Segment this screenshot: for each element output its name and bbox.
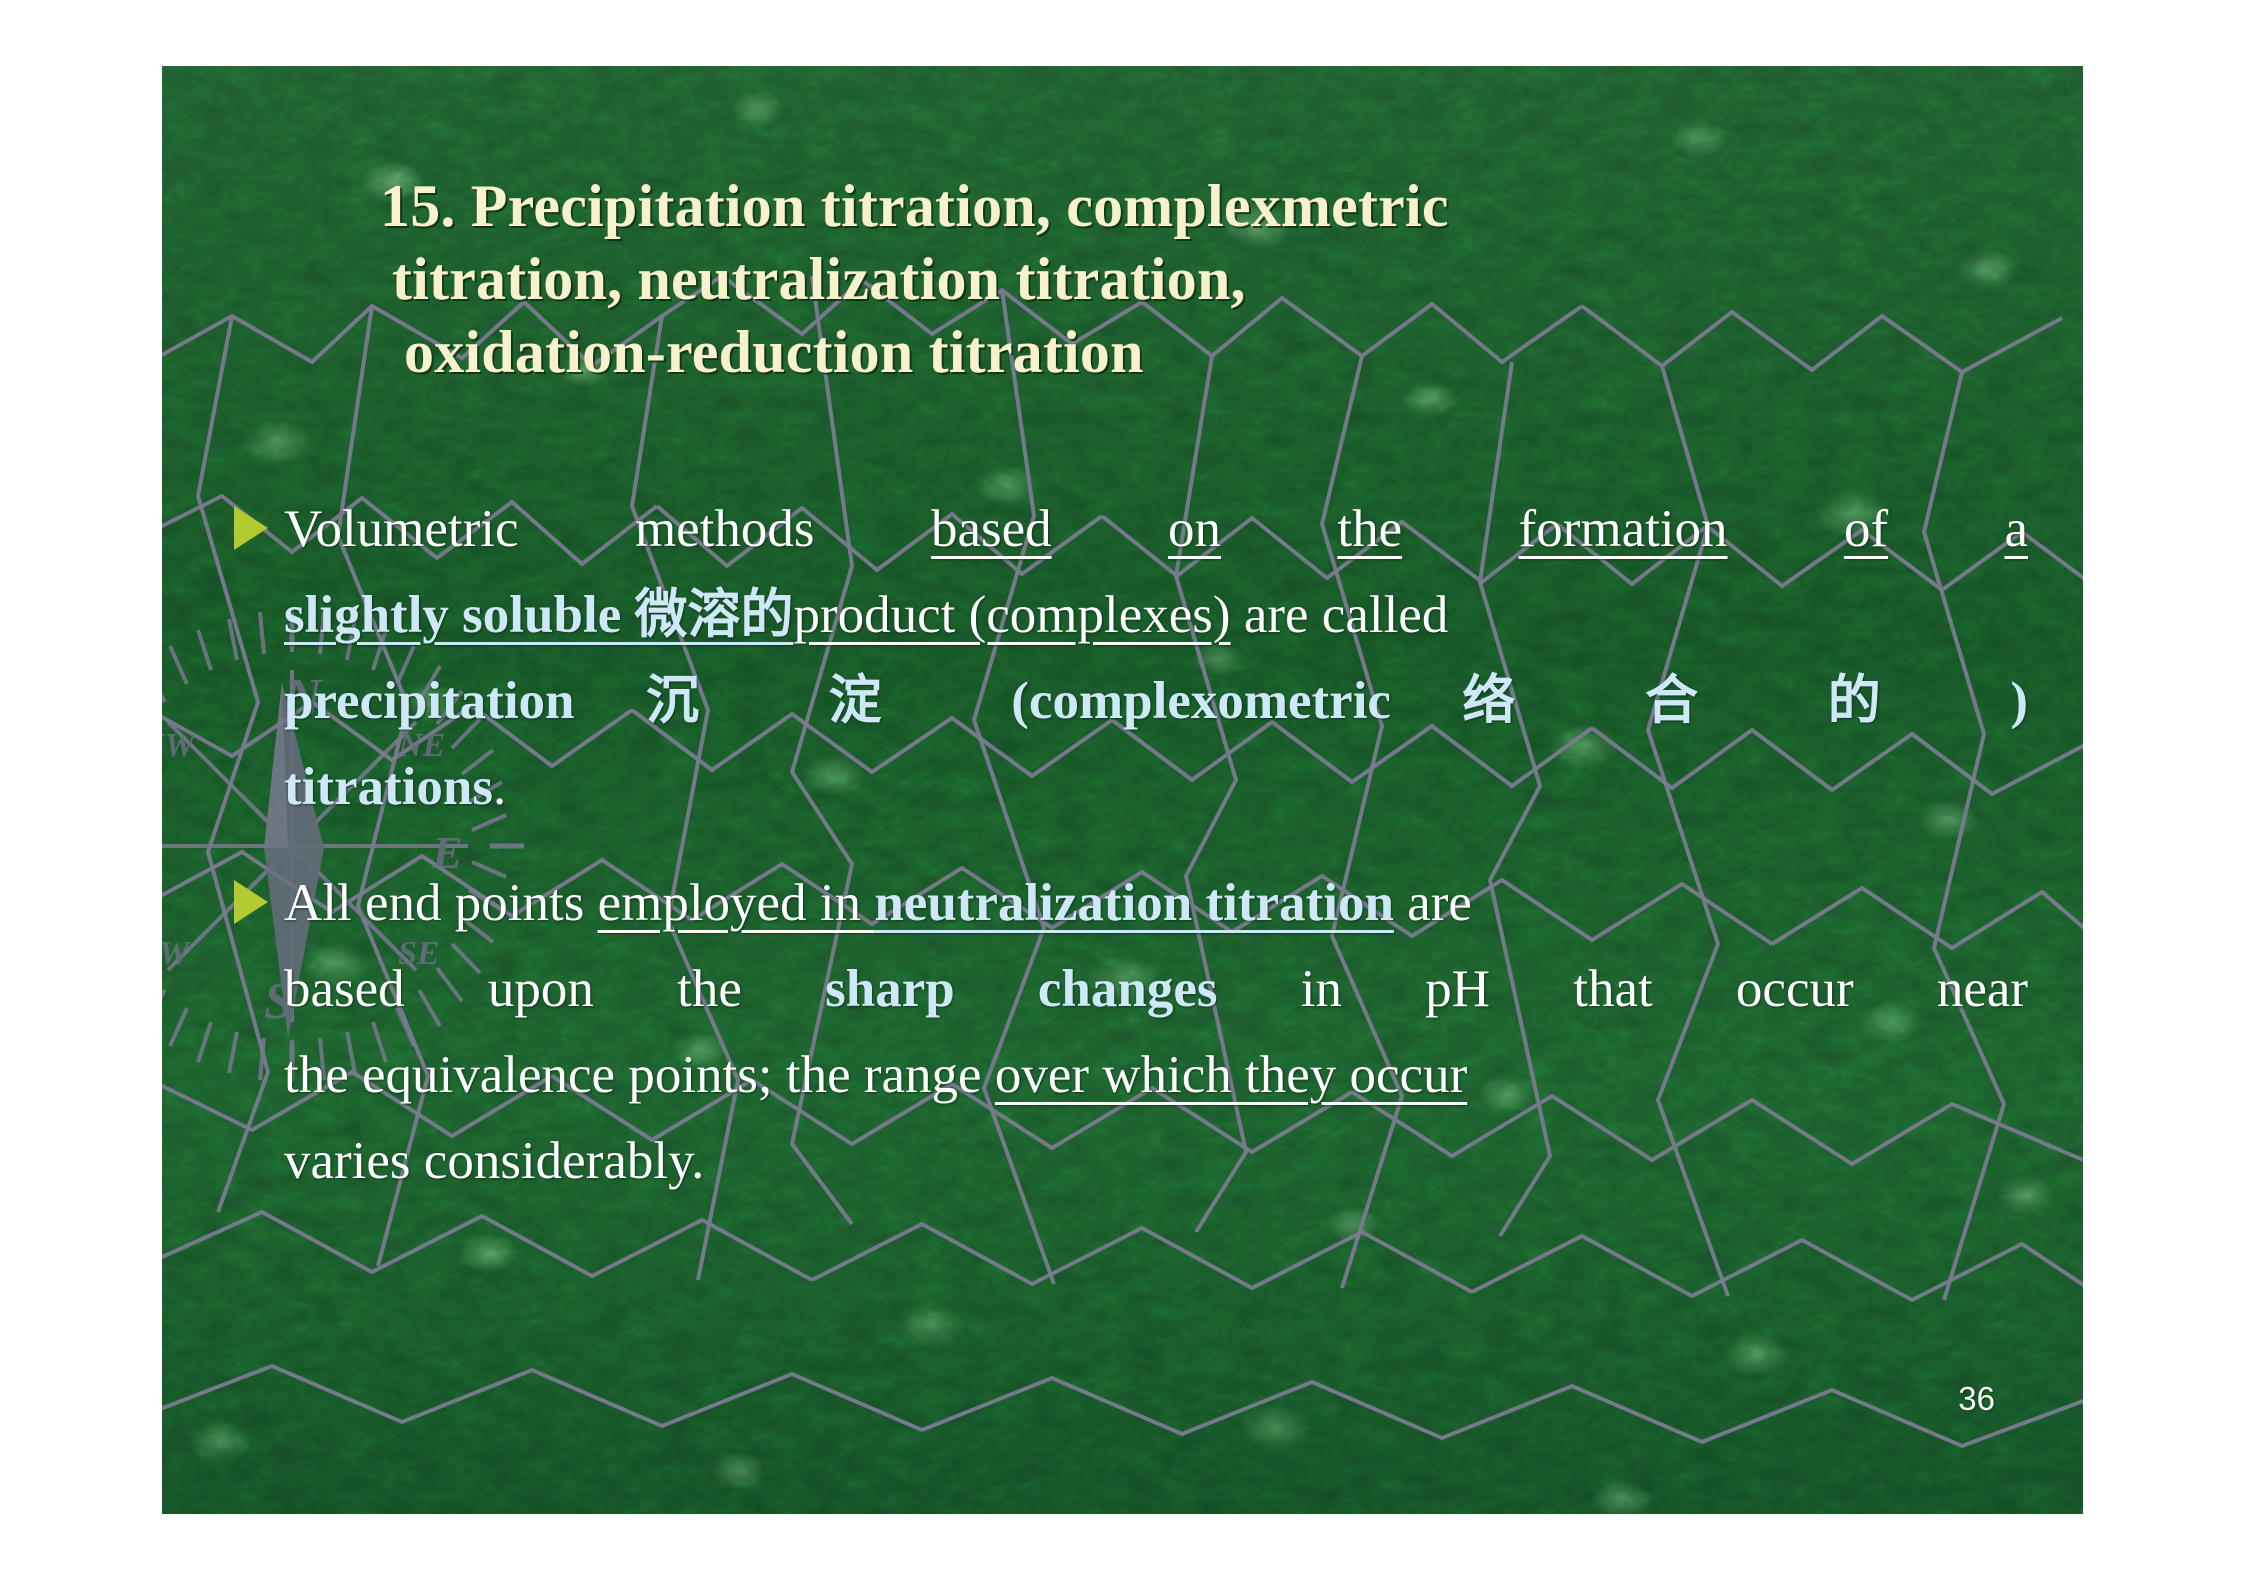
- slide-title: 15. Precipitation titration, complexmetr…: [380, 170, 1860, 389]
- bullet-2-line-3: the equivalence points; the range over w…: [284, 1032, 2028, 1118]
- seg-plain: are called: [1231, 586, 1449, 644]
- seg-underline: formation: [1519, 500, 1728, 558]
- seg-underline: a: [2004, 500, 2028, 558]
- seg-underline: based: [931, 500, 1052, 558]
- seg-underline: on: [1168, 500, 1221, 558]
- seg-underline: of: [1844, 500, 1888, 558]
- seg-accent-underline: slightly soluble: [284, 586, 634, 644]
- seg-plain: near: [1937, 960, 2028, 1018]
- seg-underline: employed in: [598, 874, 875, 932]
- seg-underline: over which they occur: [995, 1046, 1467, 1104]
- compass-label-nw: NW: [162, 727, 198, 764]
- bullet-2-line-2: based upon the sharp changes in pH that …: [284, 946, 2028, 1032]
- seg-accent-cjk: 淀: [829, 670, 940, 731]
- seg-plain: based: [284, 960, 405, 1018]
- presentation-slide: N S E W NW NE SW SE 15. Precipitation ti…: [162, 66, 2083, 1514]
- screenshot-canvas: N S E W NW NE SW SE 15. Precipitation ti…: [0, 0, 2246, 1586]
- seg-plain: the equivalence points; the range: [284, 1046, 995, 1104]
- seg-accent: titrations: [284, 758, 493, 816]
- bullet-1-line-3: precipitation 沉 淀 (complexometric 络 合 的 …: [284, 658, 2028, 744]
- seg-accent-cjk: 合: [1645, 670, 1756, 731]
- seg-plain: methods: [635, 500, 815, 558]
- triangle-bullet-icon: [234, 880, 268, 924]
- triangle-bullet-icon: [234, 506, 268, 550]
- seg-plain: All end points: [284, 874, 598, 932]
- seg-plain: occur: [1736, 960, 1854, 1018]
- bullet-item-1: Volumetric methods based on the formatio…: [228, 486, 2028, 830]
- seg-plain: Volumetric: [284, 500, 519, 558]
- seg-plain: the: [677, 960, 742, 1018]
- seg-accent: (complexometric: [1011, 672, 1391, 730]
- bullet-1-text: Volumetric methods based on the formatio…: [284, 486, 2028, 830]
- compass-label-sw: SW: [162, 935, 192, 972]
- bullet-1-line-2: slightly soluble 微溶的product (complexes) …: [284, 572, 2028, 658]
- seg-underline: product (complexes): [793, 586, 1230, 644]
- seg-accent-cjk: 沉: [646, 670, 757, 731]
- seg-accent: sharp changes: [825, 960, 1217, 1018]
- seg-plain: pH: [1425, 960, 1490, 1018]
- slide-body: Volumetric methods based on the formatio…: [228, 486, 2028, 1234]
- seg-accent-cjk: 的: [1828, 670, 1939, 731]
- seg-plain: that: [1573, 960, 1652, 1018]
- seg-plain: in: [1301, 960, 1342, 1018]
- bullet-1-line-4: titrations.: [284, 744, 2028, 830]
- page-number: 36: [1958, 1380, 1995, 1418]
- bullet-2-line-1: All end points employed in neutralizatio…: [284, 860, 2028, 946]
- seg-accent: ): [2010, 672, 2028, 730]
- seg-plain: are: [1394, 874, 1472, 932]
- bullet-2-line-4: varies considerably.: [284, 1118, 2028, 1204]
- title-line-1: 15. Precipitation titration, complexmetr…: [380, 170, 1860, 243]
- bullet-item-2: All end points employed in neutralizatio…: [228, 860, 2028, 1204]
- title-line-2: titration, neutralization titration,: [380, 243, 1860, 316]
- seg-accent: precipitation: [284, 672, 575, 730]
- seg-accent-cjk: 络: [1462, 670, 1573, 731]
- seg-accent-underline-cjk: 微溶的: [634, 584, 793, 645]
- seg-accent-underline: neutralization titration: [874, 874, 1394, 932]
- title-line-3: oxidation-reduction titration: [380, 316, 1860, 389]
- seg-underline: the: [1337, 500, 1402, 558]
- seg-plain: upon: [488, 960, 594, 1018]
- bullet-1-line-1: Volumetric methods based on the formatio…: [284, 486, 2028, 572]
- seg-plain: varies considerably.: [284, 1132, 704, 1190]
- bullet-2-text: All end points employed in neutralizatio…: [284, 860, 2028, 1204]
- seg-plain: .: [493, 758, 506, 816]
